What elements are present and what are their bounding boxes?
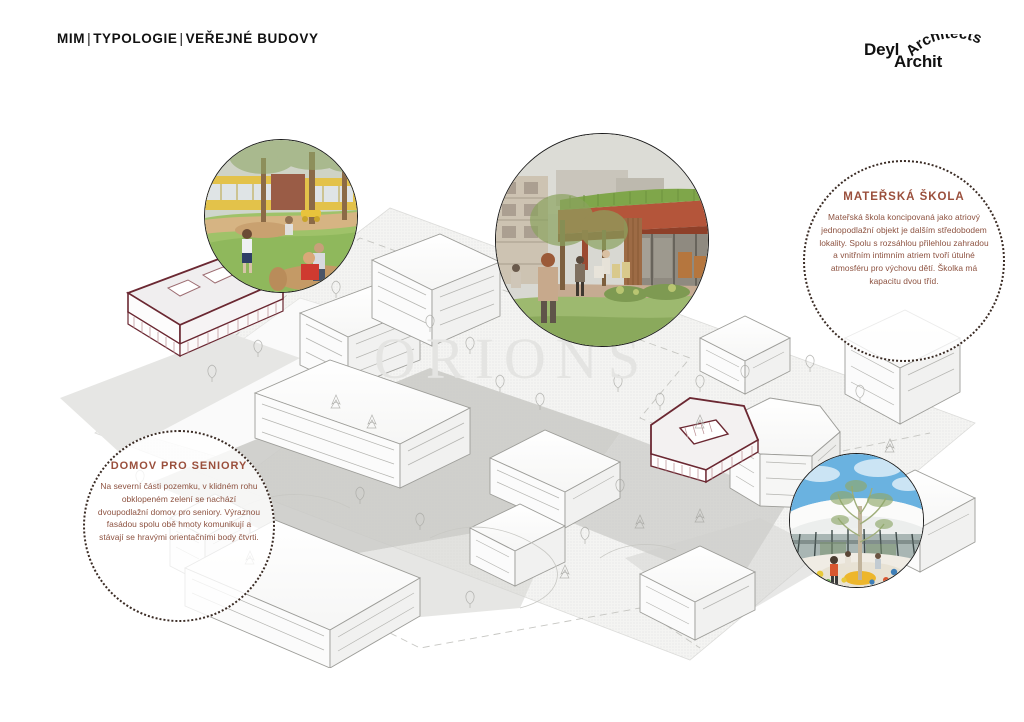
page-title-part3: VEŘEJNÉ BUDOVY [186,31,319,46]
title-separator-2: | [177,31,185,46]
kindergarten-render-photo [495,133,709,347]
presentation-board: MIM|TYPOLOGIE|VEŘEJNÉ BUDOVY Deyl Archit… [0,0,1024,722]
logo-arc-architects: Architects [906,34,1002,64]
playground-photo [204,139,358,293]
callout-senior-home-body: Na severní části pozemku, v klidném rohu… [97,480,261,544]
atrium-photo [789,453,924,588]
page-title-brand: MIM [57,31,85,46]
callout-senior-home: DOMOV PRO SENIORY Na severní části pozem… [83,430,275,622]
studio-logo: Deyl Archit Architects [850,28,1000,76]
callout-kindergarten-body: Mateřská škola koncipovaná jako atriový … [818,211,990,288]
title-separator-1: | [85,31,93,46]
callout-kindergarten: MATEŘSKÁ ŠKOLA Mateřská škola koncipovan… [803,160,1005,362]
page-title-part2: TYPOLOGIE [93,31,177,46]
logo-arc-text: Architects [906,34,984,60]
svg-text:Architects: Architects [906,34,984,60]
callout-senior-home-title: DOMOV PRO SENIORY [111,460,248,472]
callout-kindergarten-title: MATEŘSKÁ ŠKOLA [843,191,964,203]
page-title: MIM|TYPOLOGIE|VEŘEJNÉ BUDOVY [57,31,319,46]
